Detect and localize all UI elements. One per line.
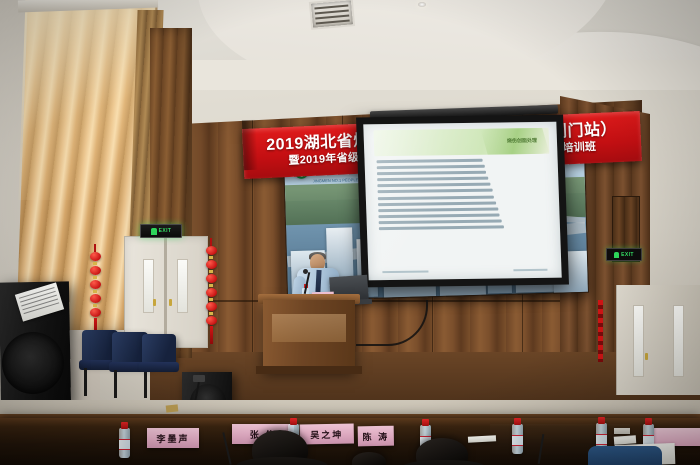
slide-footer-right	[513, 268, 547, 271]
exit-sign-label: EXIT	[621, 252, 634, 258]
air-vent-icon	[309, 0, 355, 30]
water-bottle	[119, 428, 130, 458]
lectern-front-panel	[272, 314, 346, 342]
red-lantern-string-left	[89, 244, 101, 336]
door-divider	[164, 236, 167, 346]
document-paper	[614, 435, 637, 445]
chair-leg	[84, 368, 87, 396]
exit-sign-left: EXIT	[140, 224, 182, 238]
chair-seat	[139, 362, 179, 372]
projection-screen-frame: 烧伤创面处理	[356, 115, 569, 288]
ceiling-downlight	[418, 2, 426, 7]
document-paper	[614, 428, 630, 434]
projection-screen: 烧伤创面处理	[363, 122, 561, 281]
slide-text-line	[378, 201, 496, 206]
name-placard: 吴之坤	[300, 424, 354, 445]
slide-text-body	[377, 158, 551, 258]
exit-sign-label: EXIT	[159, 228, 172, 234]
running-man-icon	[151, 228, 157, 235]
small-object	[166, 404, 179, 412]
slide-text-line	[377, 159, 483, 163]
chair[interactable]	[588, 446, 662, 465]
slide-text-line	[378, 213, 500, 218]
slide-footer-left	[382, 270, 428, 273]
chair-leg	[114, 370, 117, 398]
slide-text-line	[377, 165, 485, 170]
conference-hall-photo: 荆门市第一人民医院 JINGMEN NO.1 PEOPLE'S HOSPITAL…	[0, 0, 700, 465]
red-lantern-string-far-right	[598, 300, 603, 362]
name-placard: 李墨声	[147, 428, 199, 448]
exit-sign-right: EXIT	[606, 248, 642, 261]
slide-text-line	[378, 207, 498, 212]
slide-title: 烧伤创面处理	[507, 137, 537, 144]
speaker-connector-panel	[193, 375, 205, 382]
slide-header-band: 烧伤创面处理	[373, 128, 549, 156]
water-bottle	[512, 424, 523, 454]
red-lantern-string-right	[205, 238, 217, 344]
slide-text-line	[379, 225, 504, 230]
slide-text-line	[377, 183, 490, 188]
double-door-right[interactable]	[616, 285, 700, 395]
slide-text-line	[379, 219, 502, 224]
banner-shadow-fold	[242, 120, 258, 171]
slide-text-line	[378, 195, 494, 200]
slide-text-line	[377, 171, 487, 176]
microphone-head	[303, 269, 308, 274]
name-placard: 陈 涛	[358, 426, 394, 447]
slide-text-line	[378, 189, 493, 194]
speaker-woofer-cone	[2, 332, 64, 394]
audience-head	[352, 452, 386, 465]
slide-text-line	[377, 177, 488, 182]
lectern-base	[256, 366, 362, 374]
running-man-icon	[614, 252, 619, 258]
chair-leg	[144, 370, 147, 398]
